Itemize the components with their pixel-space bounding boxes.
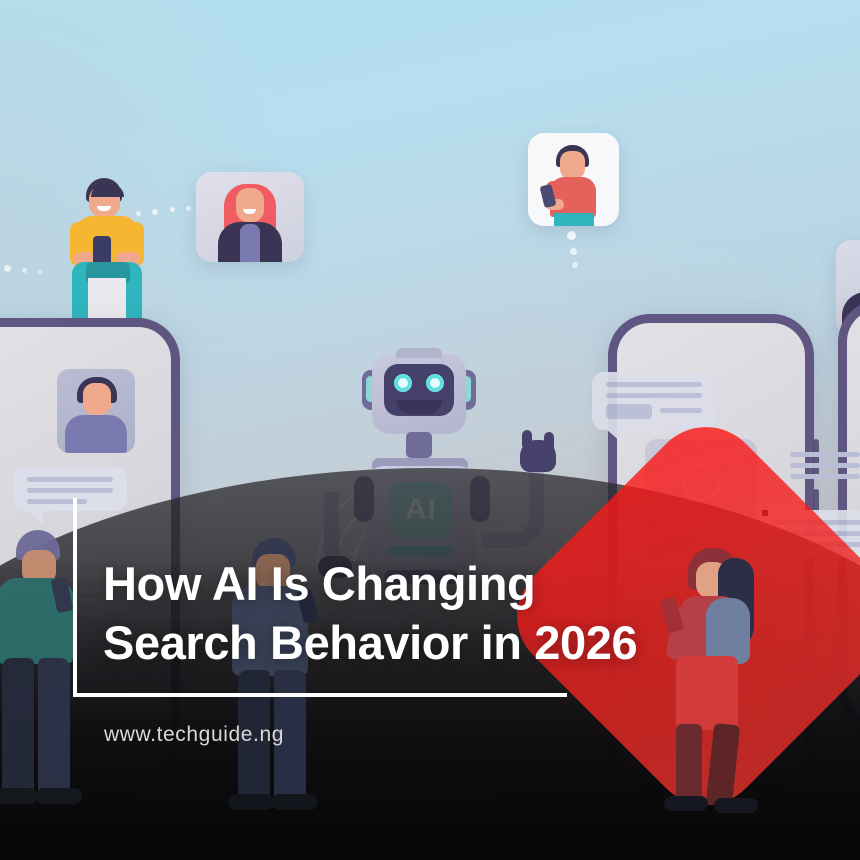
person-standing-teal-sweater <box>0 530 102 830</box>
person-sitting-yellow-shirt <box>60 178 160 328</box>
title-frame-vertical-rule <box>73 498 77 697</box>
robot-finger <box>522 430 532 450</box>
page-title: How AI Is Changing Search Behavior in 20… <box>103 554 743 672</box>
website-url: www.techguide.ng <box>104 723 284 747</box>
robot-eye-right-glint <box>430 378 440 388</box>
hair-front <box>91 184 124 197</box>
speech-dot <box>4 265 11 272</box>
card-person-red-hair <box>196 172 304 262</box>
shoe-right <box>36 788 82 804</box>
shoe-right <box>714 798 758 813</box>
card-person-red-shirt <box>528 133 619 226</box>
head <box>560 151 585 179</box>
bubble-button <box>606 404 652 419</box>
chat-bubble <box>592 372 716 430</box>
robot-mouth <box>396 400 442 414</box>
speech-dot <box>38 270 42 274</box>
robot-neck <box>406 432 432 458</box>
speech-dot <box>572 262 578 268</box>
head <box>236 188 264 222</box>
profile-photo-card <box>57 369 135 453</box>
shirt <box>65 415 127 453</box>
leg-left <box>676 724 702 806</box>
shorts <box>554 213 594 226</box>
leg-left <box>2 658 34 798</box>
speech-dot <box>570 248 577 255</box>
title-line-1: How AI Is Changing <box>103 554 743 613</box>
speech-dot <box>567 231 576 240</box>
robot-head-cap <box>396 348 442 358</box>
shoe-left <box>664 796 708 811</box>
banner-image: AI <box>0 0 860 860</box>
robot-eye-left-glint <box>398 378 408 388</box>
title-line-2: Search Behavior in 2026 <box>103 613 743 672</box>
leg-right <box>38 658 70 798</box>
shoe-left <box>0 788 38 804</box>
robot-finger <box>544 432 554 452</box>
shirt <box>240 224 260 262</box>
text-lines <box>790 452 860 485</box>
title-frame-horizontal-rule <box>73 693 567 697</box>
shoe-left <box>228 794 274 810</box>
speech-dot <box>22 268 27 273</box>
leg-right <box>706 723 740 807</box>
chat-bubble <box>13 467 127 511</box>
shoe-right <box>272 794 318 810</box>
speech-dot <box>170 207 175 212</box>
head <box>83 383 111 415</box>
speech-dot <box>186 206 191 211</box>
